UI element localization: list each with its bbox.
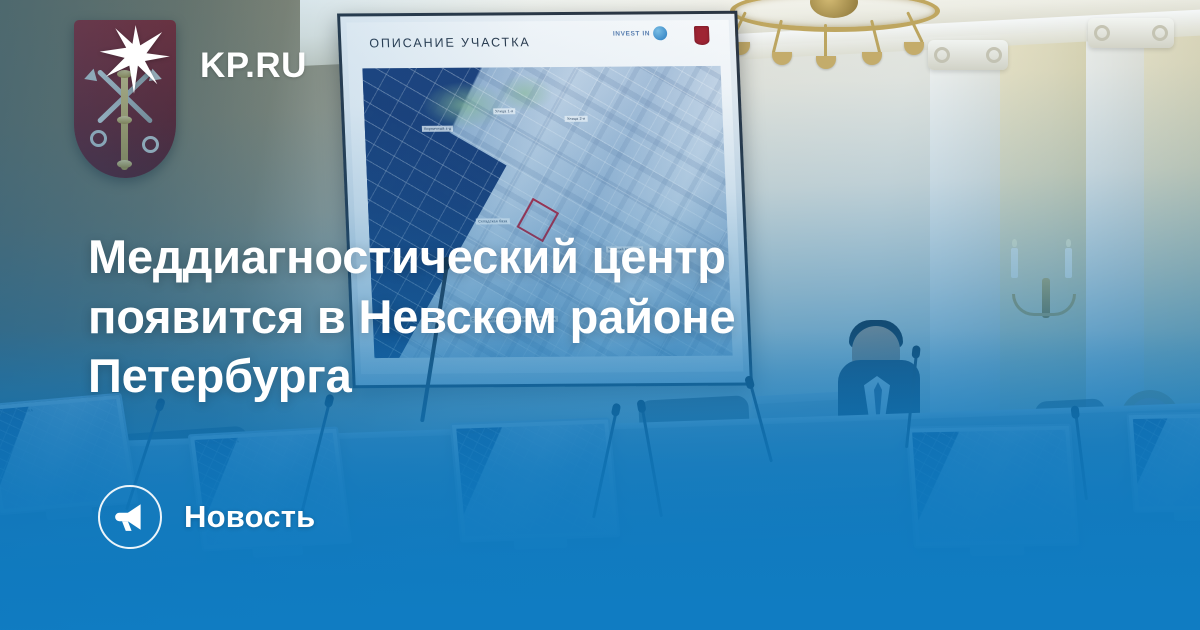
page-title: Меддиагностический центр появится в Невс… (88, 227, 918, 405)
news-share-card: ОПИСАНИЕ УЧАСТКА INVEST IN Кирпичный з-д… (0, 0, 1200, 630)
kp-swallow-bird-icon (95, 22, 173, 100)
brand-name: KP.RU (200, 48, 307, 83)
badge-label: Новость (184, 499, 315, 535)
megaphone-icon (98, 485, 162, 549)
brand-lockup[interactable]: KP.RU (200, 48, 307, 83)
status-badge[interactable]: Новость (98, 485, 315, 549)
